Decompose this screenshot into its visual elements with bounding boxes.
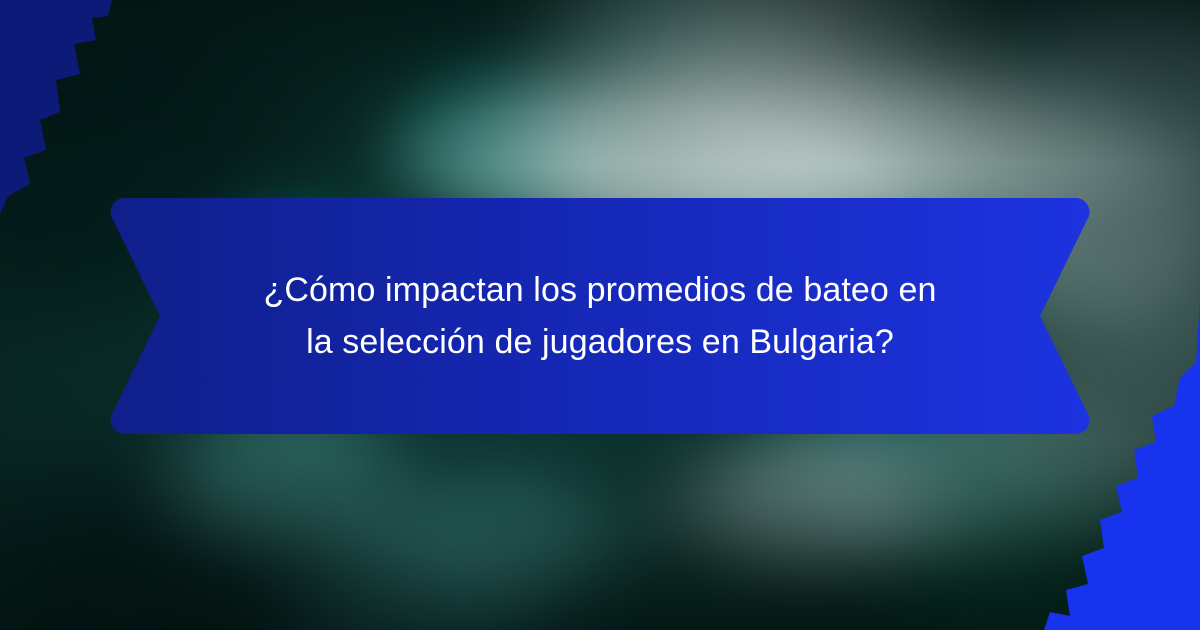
ribbon-banner (110, 198, 1090, 434)
ribbon-banner-shape (110, 198, 1090, 434)
social-share-card: ¿Cómo impactan los promedios de bateo en… (0, 0, 1200, 630)
